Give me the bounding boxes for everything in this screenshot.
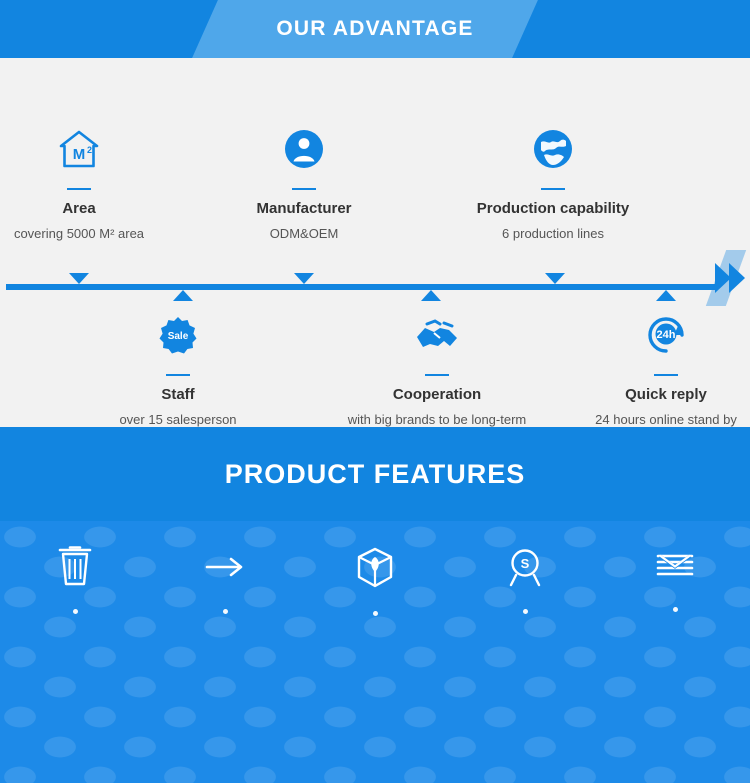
low-resistance-gauge-icon: S [505,546,545,588]
house-square-meter-icon: M 2 [0,122,189,176]
svg-text:S: S [521,556,530,571]
feature-icon-eco-friendly [300,521,450,661]
long-arrow-right-icon [203,546,247,588]
item-divider [166,374,190,376]
timeline-bar [6,284,718,290]
feature-dot [673,607,678,612]
arrow-chevron-icon [729,263,745,293]
globe-icon [443,122,663,176]
advantage-title: OUR ADVANTAGE [0,0,750,58]
feature-dot [223,609,228,614]
feature-dot [523,609,528,614]
advantage-item-title: Quick reply [556,386,750,403]
feature-icon-low-resistance: S [450,521,600,661]
advantage-item-title: Staff [68,386,288,403]
timeline-tick [173,290,193,301]
item-divider [67,188,91,190]
advantage-item-desc: covering 5000 M² area [0,224,189,243]
feature-dot [373,611,378,616]
advantage-item-title: Area [0,200,189,217]
sale-badge-icon: Sale [68,308,288,362]
advantage-item-desc: 6 production lines [443,224,663,243]
timeline-tick [294,273,314,284]
feature-icon-high-permeability [600,521,750,661]
advantage-header: OUR ADVANTAGE [0,0,750,58]
features-title: PRODUCT FEATURES [0,427,750,521]
advantage-item-title: Manufacturer [194,200,414,217]
handshake-icon [327,308,547,362]
feature-icon-long-working-life [150,521,300,661]
timeline-tick [421,290,441,301]
svg-text:Sale: Sale [168,331,189,342]
item-divider [425,374,449,376]
timeline-tick [69,273,89,284]
advantage-item-manufacturer: Manufacturer ODM&OEM [194,122,414,243]
features-icon-row: S [0,521,750,661]
product-features-section: PRODUCT FEATURES [0,427,750,783]
svg-text:24h: 24h [657,329,676,341]
feature-icon-dust-collecting [0,521,150,661]
advantage-item-quick-reply: 24h Quick reply 24 hours online stand by [556,308,750,429]
features-title-band: PRODUCT FEATURES [0,427,750,521]
advantage-item-area: M 2 Area covering 5000 M² area [0,122,189,243]
timeline-tick [545,273,565,284]
advantage-item-staff: Sale Staff over 15 salesperson [68,308,288,429]
dust-bin-filter-icon [56,546,94,588]
advantage-item-title: Cooperation [327,386,547,403]
item-divider [292,188,316,190]
eco-leaf-box-icon [355,546,395,590]
svg-text:M: M [73,146,86,163]
item-divider [654,374,678,376]
air-permeability-layers-icon [654,546,696,586]
advantage-section: OUR ADVANTAGE M 2 Area coveri [0,0,750,427]
timeline-tick [656,290,676,301]
advantage-body: M 2 Area covering 5000 M² area Manufactu… [0,58,750,427]
24h-clock-icon: 24h [556,308,750,362]
advantage-item-desc: ODM&OEM [194,224,414,243]
svg-text:2: 2 [87,145,92,155]
feature-dot [73,609,78,614]
item-divider [541,188,565,190]
user-circle-icon [194,122,414,176]
advantage-item-title: Production capability [443,200,663,217]
advantage-item-production-capability: Production capability 6 production lines [443,122,663,243]
